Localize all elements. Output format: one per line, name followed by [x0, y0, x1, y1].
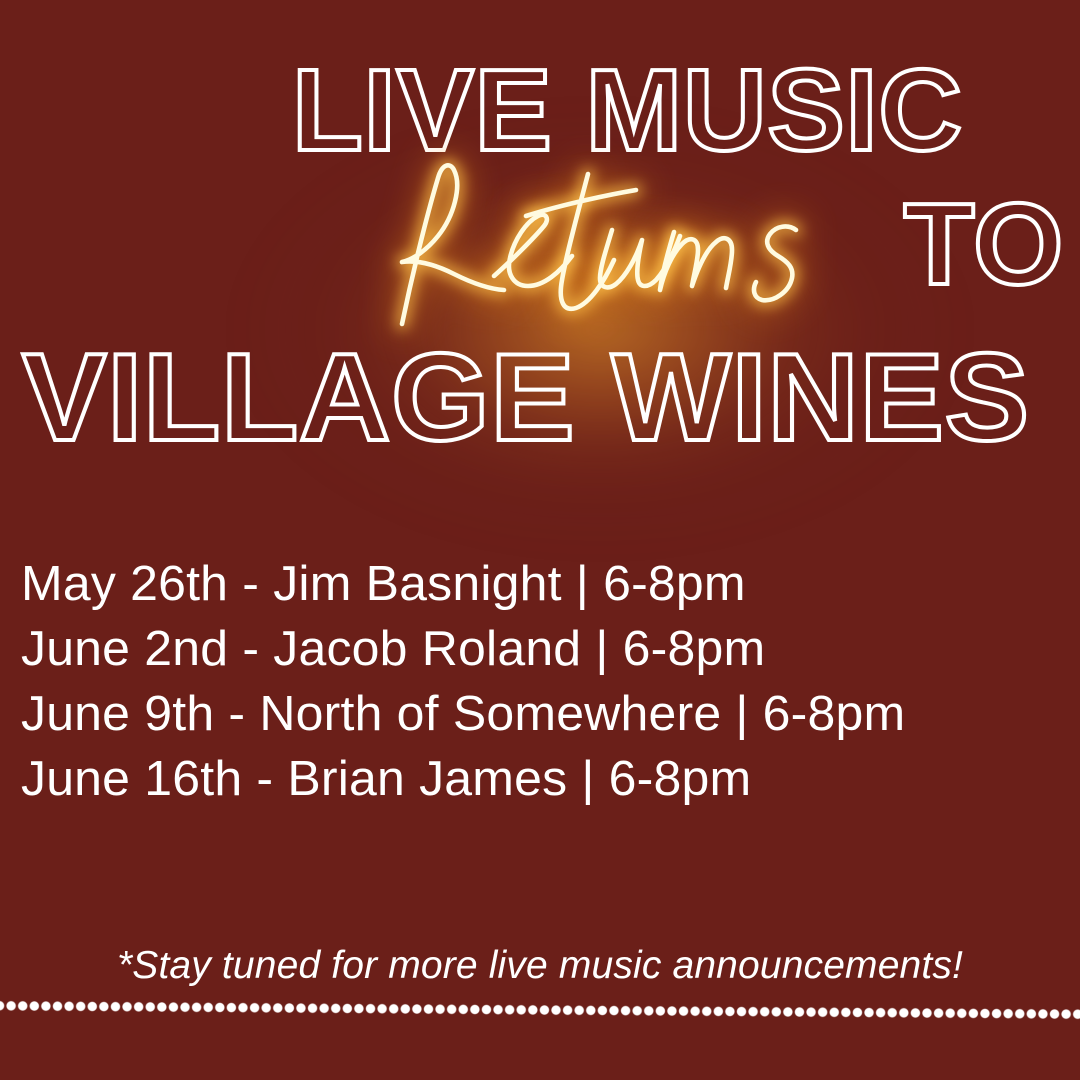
event-list-item: June 2nd - Jacob Roland | 6-8pm — [21, 617, 1080, 682]
poster-canvas: LIVE MUSIC TO VILLAGE WINES — [0, 0, 1080, 1080]
headline-row-live-music: LIVE MUSIC — [0, 52, 1080, 168]
headline-live-music: LIVE MUSIC — [292, 52, 963, 168]
headline-village-wines: VILLAGE WINES — [22, 336, 1030, 460]
headline-to: TO — [904, 186, 1064, 302]
returns-glyph-paths — [402, 165, 796, 324]
event-schedule-list: May 26th - Jim Basnight | 6-8pm June 2nd… — [21, 552, 1061, 812]
event-list-item: May 26th - Jim Basnight | 6-8pm — [21, 552, 1080, 617]
dotted-divider — [0, 1000, 1080, 1023]
headline-row-village-wines: VILLAGE WINES — [0, 336, 1080, 460]
event-list-item: June 9th - North of Somewhere | 6-8pm — [21, 682, 1080, 747]
footer-note: *Stay tuned for more live music announce… — [0, 944, 1080, 988]
neon-script-returns — [368, 156, 888, 336]
event-list-item: June 16th - Brian James | 6-8pm — [21, 747, 1080, 812]
